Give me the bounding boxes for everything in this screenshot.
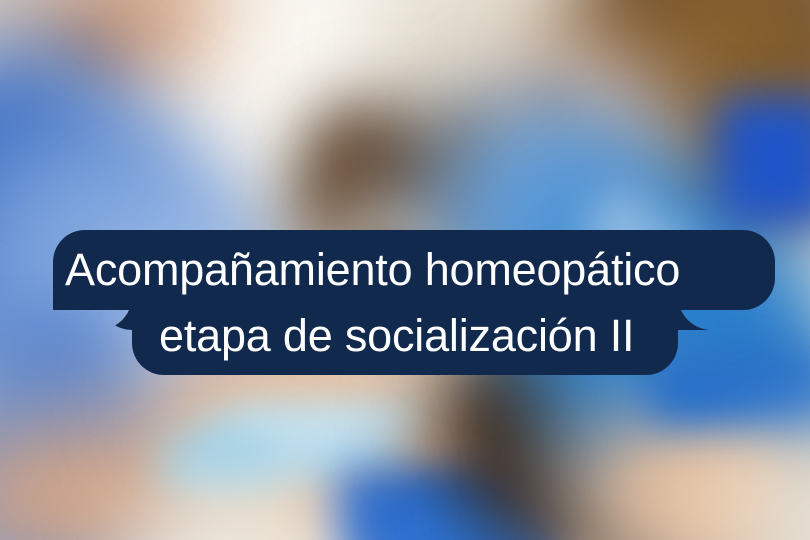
- background-photo: [0, 0, 810, 540]
- blue-object-right: [716, 96, 810, 226]
- screenshot-canvas: Acompañamiento homeopático etapa de soci…: [0, 0, 810, 540]
- nurse-badge: [598, 198, 648, 228]
- nurse-scrub-trim: [586, 232, 696, 254]
- dog-nose: [352, 246, 426, 296]
- vet-left-collar-button: [56, 48, 74, 66]
- nurse-sleeve-cuff: [648, 362, 810, 422]
